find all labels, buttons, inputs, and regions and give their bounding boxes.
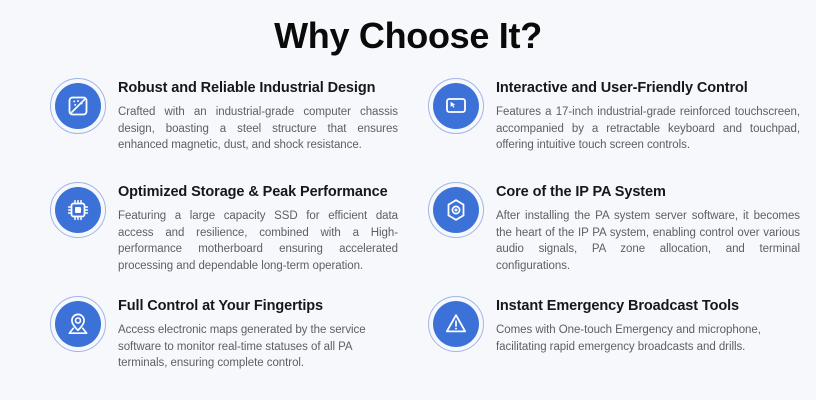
feature-title: Instant Emergency Broadcast Tools (496, 297, 800, 315)
feature-icon-wrapper (50, 78, 106, 134)
feature-title: Interactive and User-Friendly Control (496, 79, 800, 97)
feature-item-full-control: Full Control at Your Fingertips Access e… (50, 296, 398, 372)
cpu-chip-icon (55, 187, 101, 233)
feature-description: Comes with One-touch Emergency and micro… (496, 322, 800, 355)
features-column-left: Robust and Reliable Industrial Design Cr… (50, 78, 398, 386)
feature-text-block: Optimized Storage & Peak Performance Fea… (118, 182, 398, 274)
feature-icon-wrapper (428, 296, 484, 352)
feature-icon-wrapper (50, 182, 106, 238)
feature-title: Full Control at Your Fingertips (118, 297, 398, 315)
feature-item-robust-design: Robust and Reliable Industrial Design Cr… (50, 78, 398, 168)
feature-description: Features a 17-inch industrial-grade rein… (496, 104, 800, 154)
monitor-cursor-icon (433, 83, 479, 129)
warning-triangle-icon (433, 301, 479, 347)
feature-text-block: Robust and Reliable Industrial Design Cr… (118, 78, 398, 154)
page-title: Why Choose It? (0, 0, 816, 58)
feature-text-block: Interactive and User-Friendly Control Fe… (496, 78, 800, 154)
feature-icon-wrapper (428, 78, 484, 134)
feature-item-optimized-storage: Optimized Storage & Peak Performance Fea… (50, 182, 398, 282)
chassis-panel-icon (55, 83, 101, 129)
feature-item-core-ip-pa: Core of the IP PA System After installin… (428, 182, 800, 282)
feature-title: Robust and Reliable Industrial Design (118, 79, 398, 97)
feature-icon-wrapper (50, 296, 106, 352)
feature-text-block: Instant Emergency Broadcast Tools Comes … (496, 296, 800, 355)
feature-text-block: Full Control at Your Fingertips Access e… (118, 296, 398, 372)
feature-description: Access electronic maps generated by the … (118, 322, 398, 372)
why-choose-it-section: Why Choose It? (0, 0, 816, 400)
feature-title: Core of the IP PA System (496, 183, 800, 201)
feature-description: Crafted with an industrial-grade compute… (118, 104, 398, 154)
feature-item-emergency-broadcast: Instant Emergency Broadcast Tools Comes … (428, 296, 800, 355)
features-grid: Robust and Reliable Industrial Design Cr… (0, 58, 816, 386)
features-column-right: Interactive and User-Friendly Control Fe… (428, 78, 800, 386)
feature-item-interactive-control: Interactive and User-Friendly Control Fe… (428, 78, 800, 168)
feature-description: After installing the PA system server so… (496, 208, 800, 274)
feature-description: Featuring a large capacity SSD for effic… (118, 208, 398, 274)
location-pin-icon (55, 301, 101, 347)
feature-text-block: Core of the IP PA System After installin… (496, 182, 800, 274)
feature-title: Optimized Storage & Peak Performance (118, 183, 398, 201)
feature-icon-wrapper (428, 182, 484, 238)
hexagon-core-icon (433, 187, 479, 233)
